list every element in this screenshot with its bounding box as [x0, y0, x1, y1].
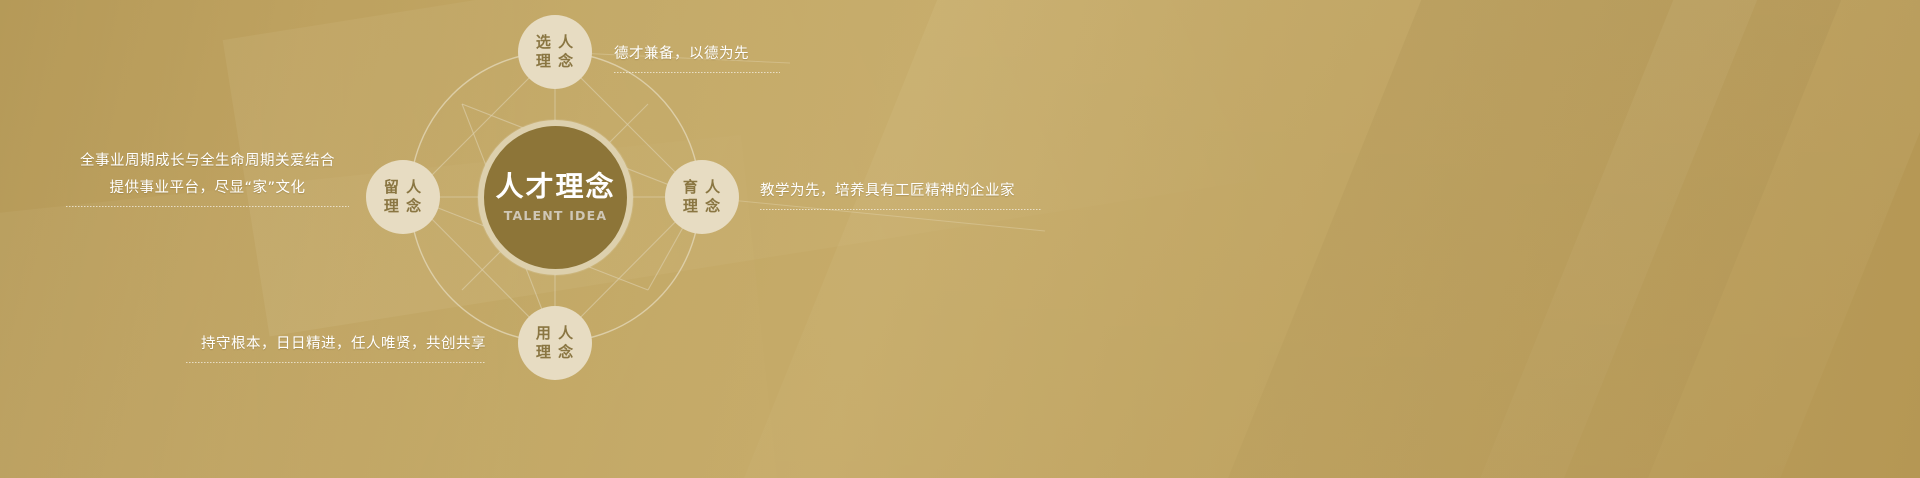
center-title-cn: 人才理念: [495, 172, 615, 203]
center-node-talent-idea[interactable]: 人才理念 TALENT IDEA: [478, 120, 633, 275]
caption-top-text: 德才兼备，以德为先: [614, 46, 749, 62]
node-right-line1: 育 人: [683, 178, 721, 197]
node-employ-talent[interactable]: 用 人 理 念: [518, 306, 592, 380]
node-left-line1: 留 人: [384, 178, 422, 197]
caption-left-underline: [66, 206, 349, 207]
caption-left-line1: 全事业周期成长与全生命周期关爱结合: [80, 153, 335, 169]
node-top-line1: 选 人: [536, 33, 574, 52]
center-title-en: TALENT IDEA: [504, 208, 608, 223]
caption-top-underline: [614, 72, 780, 73]
caption-right-text: 教学为先，培养具有工匠精神的企业家: [760, 183, 1015, 199]
node-bottom-line2: 理 念: [536, 343, 574, 362]
caption-select-talent: 德才兼备，以德为先: [614, 41, 780, 73]
node-right-line2: 理 念: [683, 197, 721, 216]
node-top-line2: 理 念: [536, 52, 574, 71]
caption-retain-talent: 全事业周期成长与全生命周期关爱结合 提供事业平台，尽显“家”文化: [66, 148, 349, 207]
caption-employ-talent: 持守根本，日日精进，任人唯贤，共创共享: [186, 331, 486, 363]
node-left-line2: 理 念: [384, 197, 422, 216]
caption-bottom-text: 持守根本，日日精进，任人唯贤，共创共享: [201, 336, 486, 352]
background-stage: 人才理念 TALENT IDEA 选 人 理 念 育 人 理 念 用 人 理 念…: [0, 0, 1920, 478]
caption-right-underline: [760, 209, 1042, 210]
caption-develop-talent: 教学为先，培养具有工匠精神的企业家: [760, 178, 1042, 210]
caption-bottom-underline: [186, 362, 486, 363]
caption-left-line2: 提供事业平台，尽显“家”文化: [66, 175, 349, 202]
node-develop-talent[interactable]: 育 人 理 念: [665, 160, 739, 234]
node-select-talent[interactable]: 选 人 理 念: [518, 15, 592, 89]
node-retain-talent[interactable]: 留 人 理 念: [366, 160, 440, 234]
node-bottom-line1: 用 人: [536, 324, 574, 343]
talent-idea-diagram: [0, 0, 1920, 478]
